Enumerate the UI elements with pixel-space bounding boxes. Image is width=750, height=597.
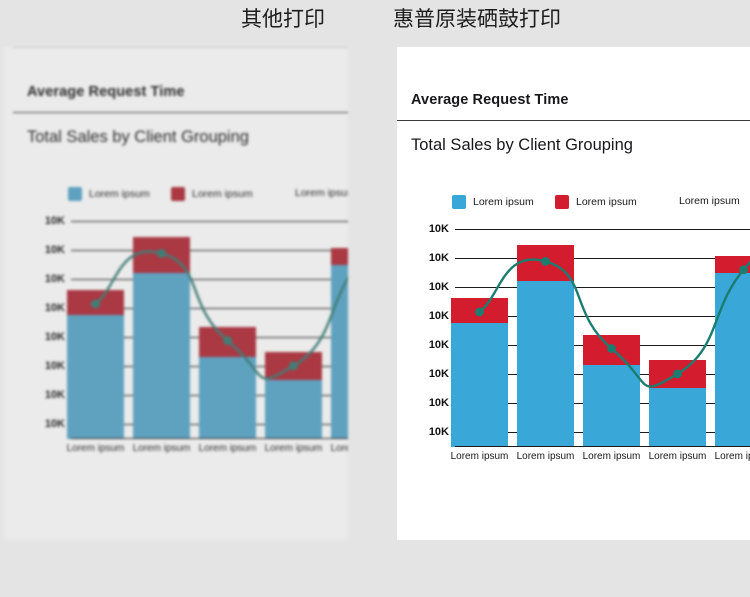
line-data-point[interactable] bbox=[673, 369, 682, 378]
legend-label: Lorem ipsum bbox=[576, 196, 637, 208]
line-data-point[interactable] bbox=[91, 300, 100, 309]
caption-hp-original-printing: 惠普原装硒鼓打印 bbox=[393, 3, 561, 33]
x-axis-tick-label: Lorem ipsum bbox=[331, 443, 348, 454]
line-data-point[interactable] bbox=[475, 308, 484, 317]
line-data-point[interactable] bbox=[157, 249, 166, 258]
line-series-layer bbox=[13, 214, 348, 439]
x-axis-tick-label: Lorem ipsum bbox=[265, 443, 323, 454]
legend-item: Lorem ipsum bbox=[68, 187, 150, 201]
legend-item: Lorem ipsum bbox=[679, 195, 740, 207]
line-data-point[interactable] bbox=[223, 336, 232, 345]
x-axis-baseline bbox=[455, 446, 750, 447]
report-canvas: Average Request Time Total Sales by Clie… bbox=[13, 47, 348, 532]
x-axis-tick-label: Lorem ipsum bbox=[715, 451, 750, 462]
x-axis-tick-label: Lorem ipsum bbox=[199, 443, 257, 454]
chart-legend: Lorem ipsum Lorem ipsum Lorem ipsum bbox=[13, 187, 348, 207]
chart-title: Total Sales by Client Grouping bbox=[27, 128, 249, 147]
x-axis-labels: Lorem ipsumLorem ipsumLorem ipsumLorem i… bbox=[397, 451, 750, 469]
legend-item: Lorem ipsum bbox=[171, 187, 253, 201]
chart-plot-area: 10K10K10K10K10K10K10K10K bbox=[397, 222, 750, 447]
legend-swatch-red bbox=[171, 187, 185, 201]
print-sample-panel-other: Average Request Time Total Sales by Clie… bbox=[4, 47, 348, 540]
header-divider bbox=[13, 112, 348, 113]
legend-label: Lorem ipsum bbox=[192, 188, 253, 200]
line-data-point[interactable] bbox=[289, 361, 298, 370]
trend-line bbox=[96, 241, 349, 379]
report-canvas: Average Request Time Total Sales by Clie… bbox=[397, 47, 750, 540]
legend-label: Lorem ipsum bbox=[679, 195, 740, 207]
header-divider bbox=[397, 120, 750, 121]
caption-other-printing: 其他打印 bbox=[241, 3, 325, 33]
chart-title: Total Sales by Client Grouping bbox=[411, 136, 633, 155]
chart-plot-area: 10K10K10K10K10K10K10K10K bbox=[13, 214, 348, 439]
print-sample-panel-hp: Average Request Time Total Sales by Clie… bbox=[397, 47, 750, 540]
legend-label: Lorem ipsum bbox=[89, 188, 150, 200]
caption-row: 其他打印 惠普原装硒鼓打印 bbox=[0, 0, 750, 47]
x-axis-tick-label: Lorem ipsum bbox=[133, 443, 191, 454]
chart-legend: Lorem ipsum Lorem ipsum Lorem ipsum bbox=[397, 195, 750, 215]
x-axis-tick-label: Lorem ipsum bbox=[583, 451, 641, 462]
header-average-request-time: Average Request Time bbox=[411, 92, 569, 108]
panel-top-divider bbox=[13, 47, 348, 48]
trend-line bbox=[480, 249, 750, 387]
legend-label: Lorem ipsum bbox=[295, 187, 348, 199]
line-data-point[interactable] bbox=[541, 257, 550, 266]
legend-swatch-blue bbox=[452, 195, 466, 209]
legend-swatch-red bbox=[555, 195, 569, 209]
x-axis-labels: Lorem ipsumLorem ipsumLorem ipsumLorem i… bbox=[13, 443, 348, 461]
line-series-layer bbox=[397, 222, 750, 447]
line-data-point[interactable] bbox=[607, 344, 616, 353]
x-axis-baseline bbox=[71, 438, 348, 439]
x-axis-tick-label: Lorem ipsum bbox=[451, 451, 509, 462]
legend-item: Lorem ipsum bbox=[452, 195, 534, 209]
legend-label: Lorem ipsum bbox=[473, 196, 534, 208]
x-axis-tick-label: Lorem ipsum bbox=[517, 451, 575, 462]
legend-item: Lorem ipsum bbox=[555, 195, 637, 209]
x-axis-tick-label: Lorem ipsum bbox=[67, 443, 125, 454]
legend-item: Lorem ipsum bbox=[295, 187, 348, 199]
line-data-point[interactable] bbox=[739, 265, 748, 274]
x-axis-tick-label: Lorem ipsum bbox=[649, 451, 707, 462]
legend-swatch-blue bbox=[68, 187, 82, 201]
header-average-request-time: Average Request Time bbox=[27, 84, 185, 100]
